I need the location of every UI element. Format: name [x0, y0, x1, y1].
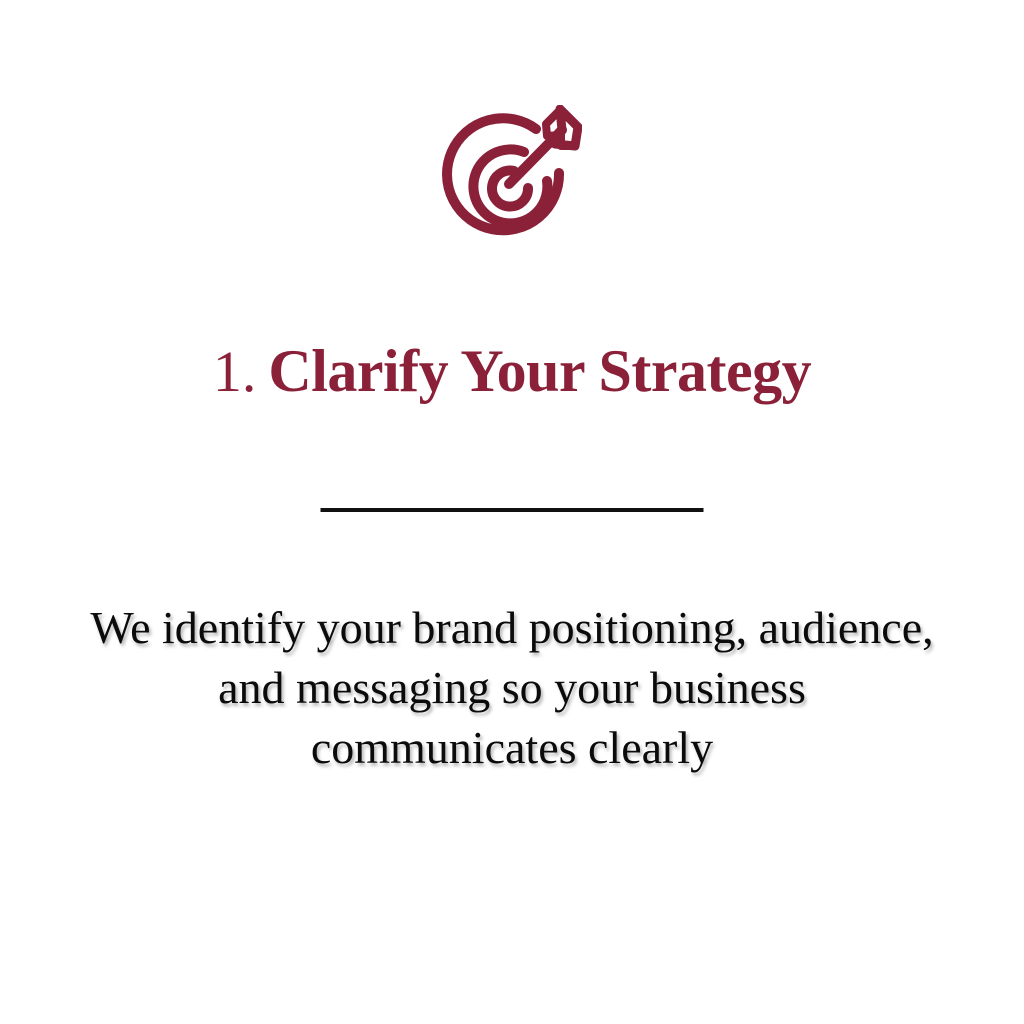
page-title: 1.Clarify Your Strategy: [0, 340, 1024, 403]
slide-card: 1.Clarify Your Strategy We identify your…: [0, 0, 1024, 1024]
title-number: 1.: [213, 339, 257, 404]
body-text: We identify your brand positioning, audi…: [0, 598, 1024, 778]
body-line: and messaging so your business: [0, 658, 1024, 718]
body-line: We identify your brand positioning, audi…: [0, 598, 1024, 658]
section-divider: [321, 508, 704, 512]
target-arrow-icon: [442, 105, 582, 250]
title-text: Clarify Your Strategy: [268, 338, 811, 404]
body-line: communicates clearly: [0, 718, 1024, 778]
icon-container: [0, 100, 1024, 255]
